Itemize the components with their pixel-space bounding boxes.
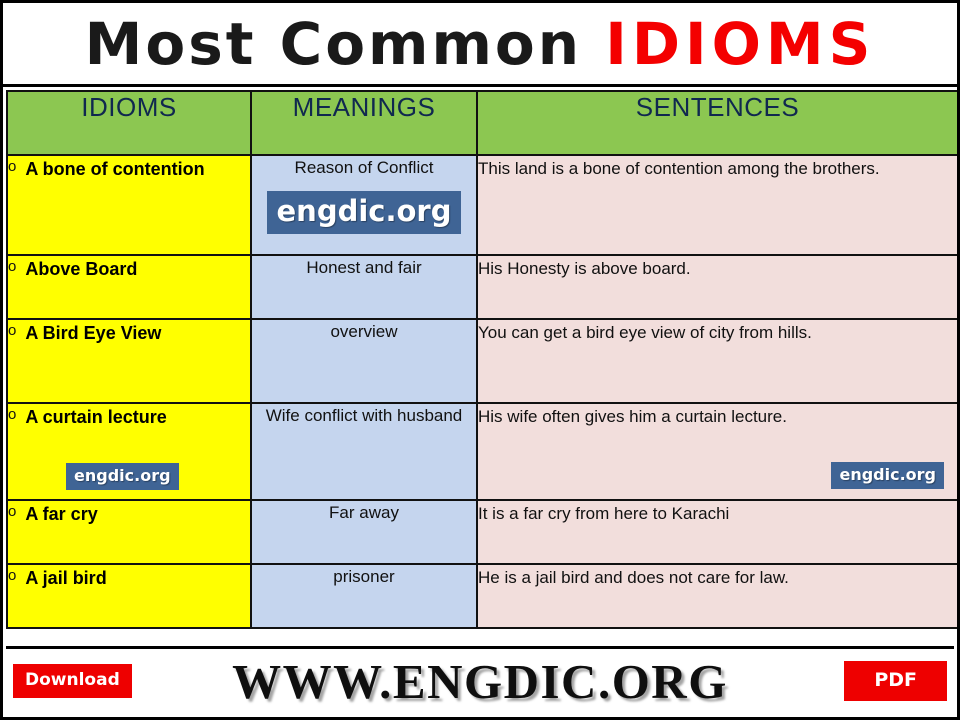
sentence-cell: You can get a bird eye view of city from… — [477, 319, 958, 403]
title-part-primary: Most Common — [85, 10, 582, 78]
bullet-icon: o — [8, 501, 16, 522]
column-header-meanings: MEANINGS — [251, 91, 477, 155]
watermark-badge: engdic.org — [831, 462, 944, 489]
idiom-text: A curtain lecture — [25, 404, 166, 431]
meaning-text: Honest and fair — [306, 258, 421, 277]
sentence-text: It is a far cry from here to Karachi — [478, 504, 729, 523]
meaning-text: prisoner — [333, 567, 394, 586]
table-row: o A curtain lecture engdic.org Wife conf… — [7, 403, 958, 500]
idioms-table-wrapper: IDIOMS MEANINGS SENTENCES o A bone of co… — [6, 90, 957, 638]
meaning-text: Wife conflict with husband — [266, 406, 463, 425]
bullet-icon: o — [8, 404, 16, 425]
sentence-text: His wife often gives him a curtain lectu… — [478, 407, 787, 426]
sentence-text: This land is a bone of contention among … — [478, 159, 880, 178]
bullet-icon: o — [8, 156, 16, 177]
title-spacer — [582, 10, 605, 78]
meaning-text: overview — [330, 322, 397, 341]
idiom-cell: o Above Board — [7, 255, 251, 319]
page-title: Most Common IDIOMS — [3, 3, 957, 87]
idiom-cell: o A bone of contention — [7, 155, 251, 255]
sentence-cell: His Honesty is above board. — [477, 255, 958, 319]
column-header-idioms: IDIOMS — [7, 91, 251, 155]
site-url-text: WWW.ENGDIC.ORG — [232, 653, 728, 710]
idiom-row-inner: o A far cry — [8, 501, 250, 528]
idiom-row-inner: o Above Board — [8, 256, 250, 283]
table-row: o A jail bird prisoner He is a jail bird… — [7, 564, 958, 628]
table-row: o A far cry Far away It is a far cry fro… — [7, 500, 958, 564]
table-body: o A bone of contention Reason of Conflic… — [7, 155, 958, 628]
idiom-text: A jail bird — [25, 565, 106, 592]
idiom-text: A Bird Eye View — [25, 320, 161, 347]
sentence-text: You can get a bird eye view of city from… — [478, 323, 812, 342]
watermark-badge: engdic.org — [267, 191, 462, 234]
idiom-cell: o A Bird Eye View — [7, 319, 251, 403]
title-part-accent: IDIOMS — [605, 10, 875, 78]
meaning-cell: prisoner — [251, 564, 477, 628]
idiom-row-inner: o A jail bird — [8, 565, 250, 592]
table-header: IDIOMS MEANINGS SENTENCES — [7, 91, 958, 155]
sentence-cell: This land is a bone of contention among … — [477, 155, 958, 255]
watermark-badge: engdic.org — [66, 463, 179, 490]
idiom-text: Above Board — [25, 256, 137, 283]
pdf-button[interactable]: PDF — [844, 661, 947, 701]
sentence-cell: He is a jail bird and does not care for … — [477, 564, 958, 628]
table-row: o Above Board Honest and fair His Honest… — [7, 255, 958, 319]
title-container: Most Common IDIOMS — [85, 15, 876, 73]
meaning-cell: Far away — [251, 500, 477, 564]
column-header-sentences: SENTENCES — [477, 91, 958, 155]
sentence-cell: It is a far cry from here to Karachi — [477, 500, 958, 564]
meaning-text: Reason of Conflict — [295, 158, 434, 177]
footer-bar: Download WWW.ENGDIC.ORG PDF — [6, 646, 954, 714]
meaning-text: Far away — [329, 503, 399, 522]
idiom-text: A far cry — [25, 501, 97, 528]
bullet-icon: o — [8, 320, 16, 341]
table-row: o A Bird Eye View overview You can get a… — [7, 319, 958, 403]
poster-page: Most Common IDIOMS IDIOMS MEANINGS SENTE… — [0, 0, 960, 720]
meaning-cell: Honest and fair — [251, 255, 477, 319]
table-row: o A bone of contention Reason of Conflic… — [7, 155, 958, 255]
idiom-text: A bone of contention — [25, 156, 204, 183]
idiom-cell: o A jail bird — [7, 564, 251, 628]
header-row: IDIOMS MEANINGS SENTENCES — [7, 91, 958, 155]
meaning-cell: Wife conflict with husband — [251, 403, 477, 500]
meaning-cell: overview — [251, 319, 477, 403]
bullet-icon: o — [8, 256, 16, 277]
idiom-row-inner: o A bone of contention — [8, 156, 250, 183]
idiom-row-inner: o A curtain lecture — [8, 404, 250, 431]
idiom-cell: o A far cry — [7, 500, 251, 564]
bullet-icon: o — [8, 565, 16, 586]
sentence-cell: His wife often gives him a curtain lectu… — [477, 403, 958, 500]
sentence-text: He is a jail bird and does not care for … — [478, 568, 789, 587]
idiom-cell: o A curtain lecture engdic.org — [7, 403, 251, 500]
download-button[interactable]: Download — [13, 664, 132, 698]
idiom-row-inner: o A Bird Eye View — [8, 320, 250, 347]
meaning-cell: Reason of Conflict engdic.org — [251, 155, 477, 255]
sentence-text: His Honesty is above board. — [478, 259, 691, 278]
idioms-table: IDIOMS MEANINGS SENTENCES o A bone of co… — [6, 90, 959, 629]
